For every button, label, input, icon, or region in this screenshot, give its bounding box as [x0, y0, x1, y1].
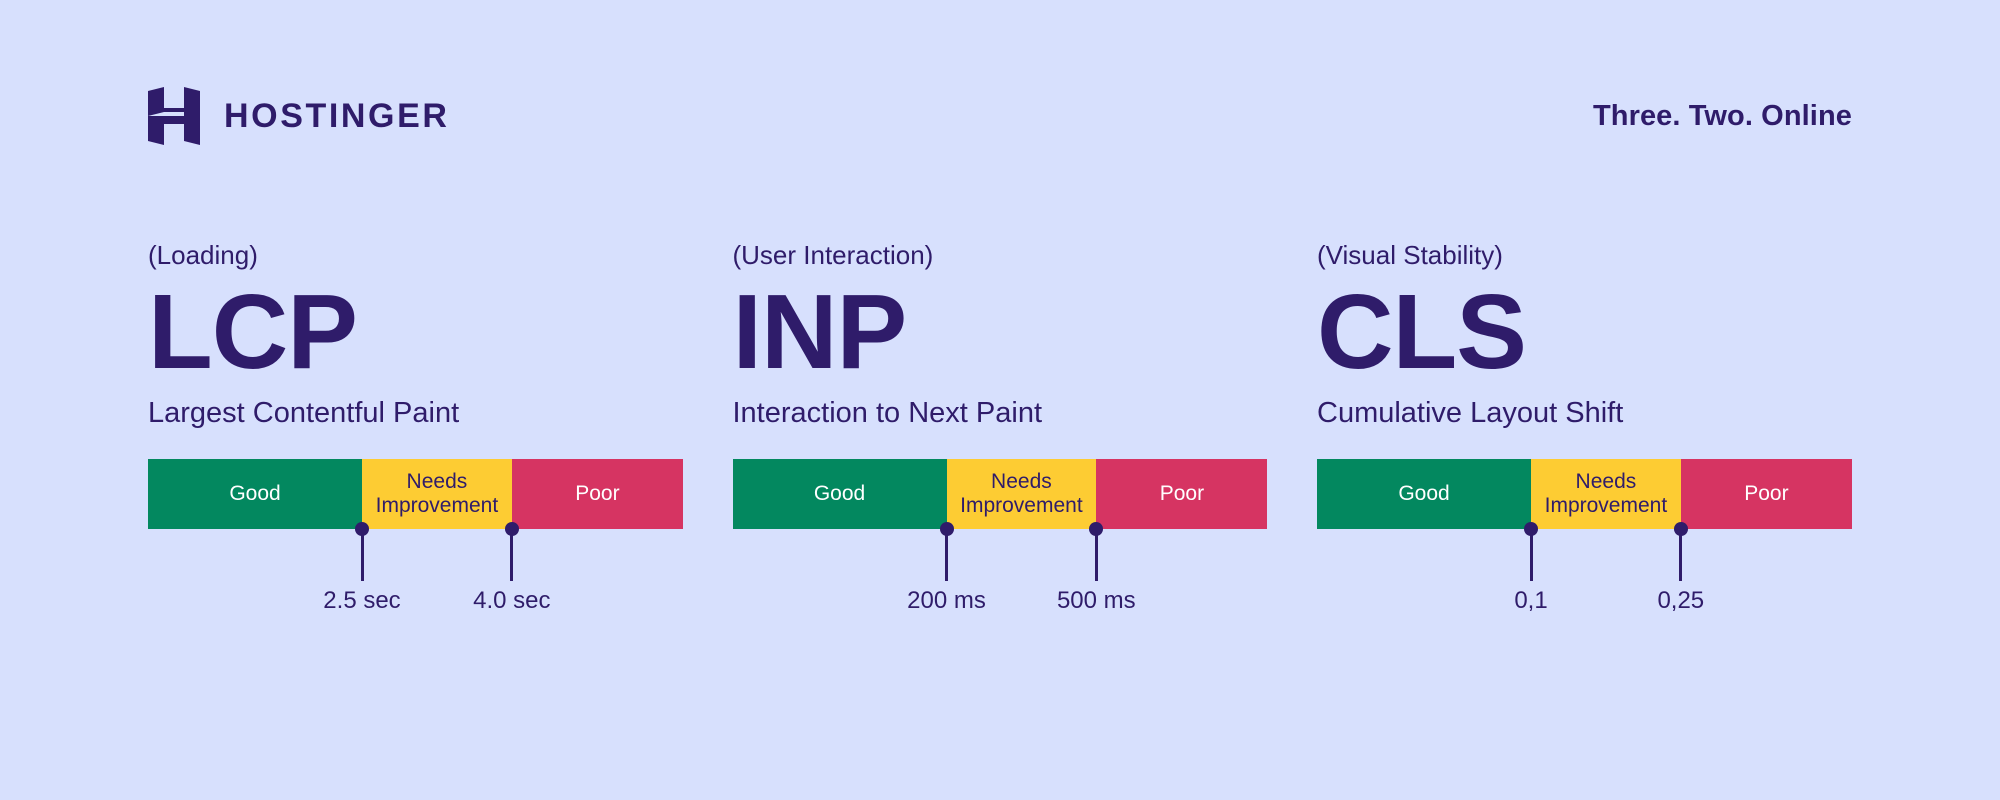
threshold-scale: Good Needs Improvement Poor 0,1 0,25 — [1317, 459, 1852, 529]
metric-full-name: Cumulative Layout Shift — [1317, 396, 1852, 431]
metric-full-name: Interaction to Next Paint — [733, 396, 1268, 431]
segment-needs-improvement: Needs Improvement — [947, 459, 1097, 529]
segment-poor: Poor — [1096, 459, 1267, 529]
segment-good: Good — [148, 459, 362, 529]
segment-good: Good — [733, 459, 947, 529]
scale-bar: Good Needs Improvement Poor — [733, 459, 1268, 529]
segment-good: Good — [1317, 459, 1531, 529]
metrics-row: (Loading) LCP Largest Contentful Paint G… — [148, 240, 1852, 529]
scale-bar: Good Needs Improvement Poor — [1317, 459, 1852, 529]
metric-card-lcp: (Loading) LCP Largest Contentful Paint G… — [148, 240, 683, 529]
segment-needs-improvement: Needs Improvement — [362, 459, 512, 529]
threshold-label: 0,25 — [1657, 587, 1704, 616]
threshold-label: 4.0 sec — [473, 587, 550, 616]
threshold-stem — [945, 529, 948, 581]
brand-lockup: HOSTINGER — [148, 87, 450, 145]
threshold-scale: Good Needs Improvement Poor 200 ms 500 m… — [733, 459, 1268, 529]
metric-abbreviation: CLS — [1317, 275, 1852, 389]
threshold-scale: Good Needs Improvement Poor 2.5 sec 4.0 … — [148, 459, 683, 529]
threshold-stem — [510, 529, 513, 581]
segment-poor: Poor — [1681, 459, 1852, 529]
threshold-label: 2.5 sec — [323, 587, 400, 616]
metric-card-inp: (User Interaction) INP Interaction to Ne… — [733, 240, 1268, 529]
segment-poor: Poor — [512, 459, 683, 529]
scale-bar: Good Needs Improvement Poor — [148, 459, 683, 529]
threshold-stem — [1095, 529, 1098, 581]
threshold-stem — [361, 529, 364, 581]
threshold-label: 500 ms — [1057, 587, 1136, 616]
metric-category: (Loading) — [148, 240, 683, 271]
threshold-label: 200 ms — [907, 587, 986, 616]
metric-category: (User Interaction) — [733, 240, 1268, 271]
metric-abbreviation: LCP — [148, 275, 683, 389]
metric-abbreviation: INP — [733, 275, 1268, 389]
threshold-label: 0,1 — [1514, 587, 1547, 616]
metric-full-name: Largest Contentful Paint — [148, 396, 683, 431]
metric-card-cls: (Visual Stability) CLS Cumulative Layout… — [1317, 240, 1852, 529]
threshold-stem — [1530, 529, 1533, 581]
metric-category: (Visual Stability) — [1317, 240, 1852, 271]
tagline: Three. Two. Online — [1593, 100, 1852, 133]
segment-needs-improvement: Needs Improvement — [1531, 459, 1681, 529]
brand-name: HOSTINGER — [224, 99, 450, 133]
page-header: HOSTINGER Three. Two. Online — [148, 86, 1852, 146]
hostinger-h-logo-icon — [148, 87, 200, 145]
threshold-stem — [1679, 529, 1682, 581]
